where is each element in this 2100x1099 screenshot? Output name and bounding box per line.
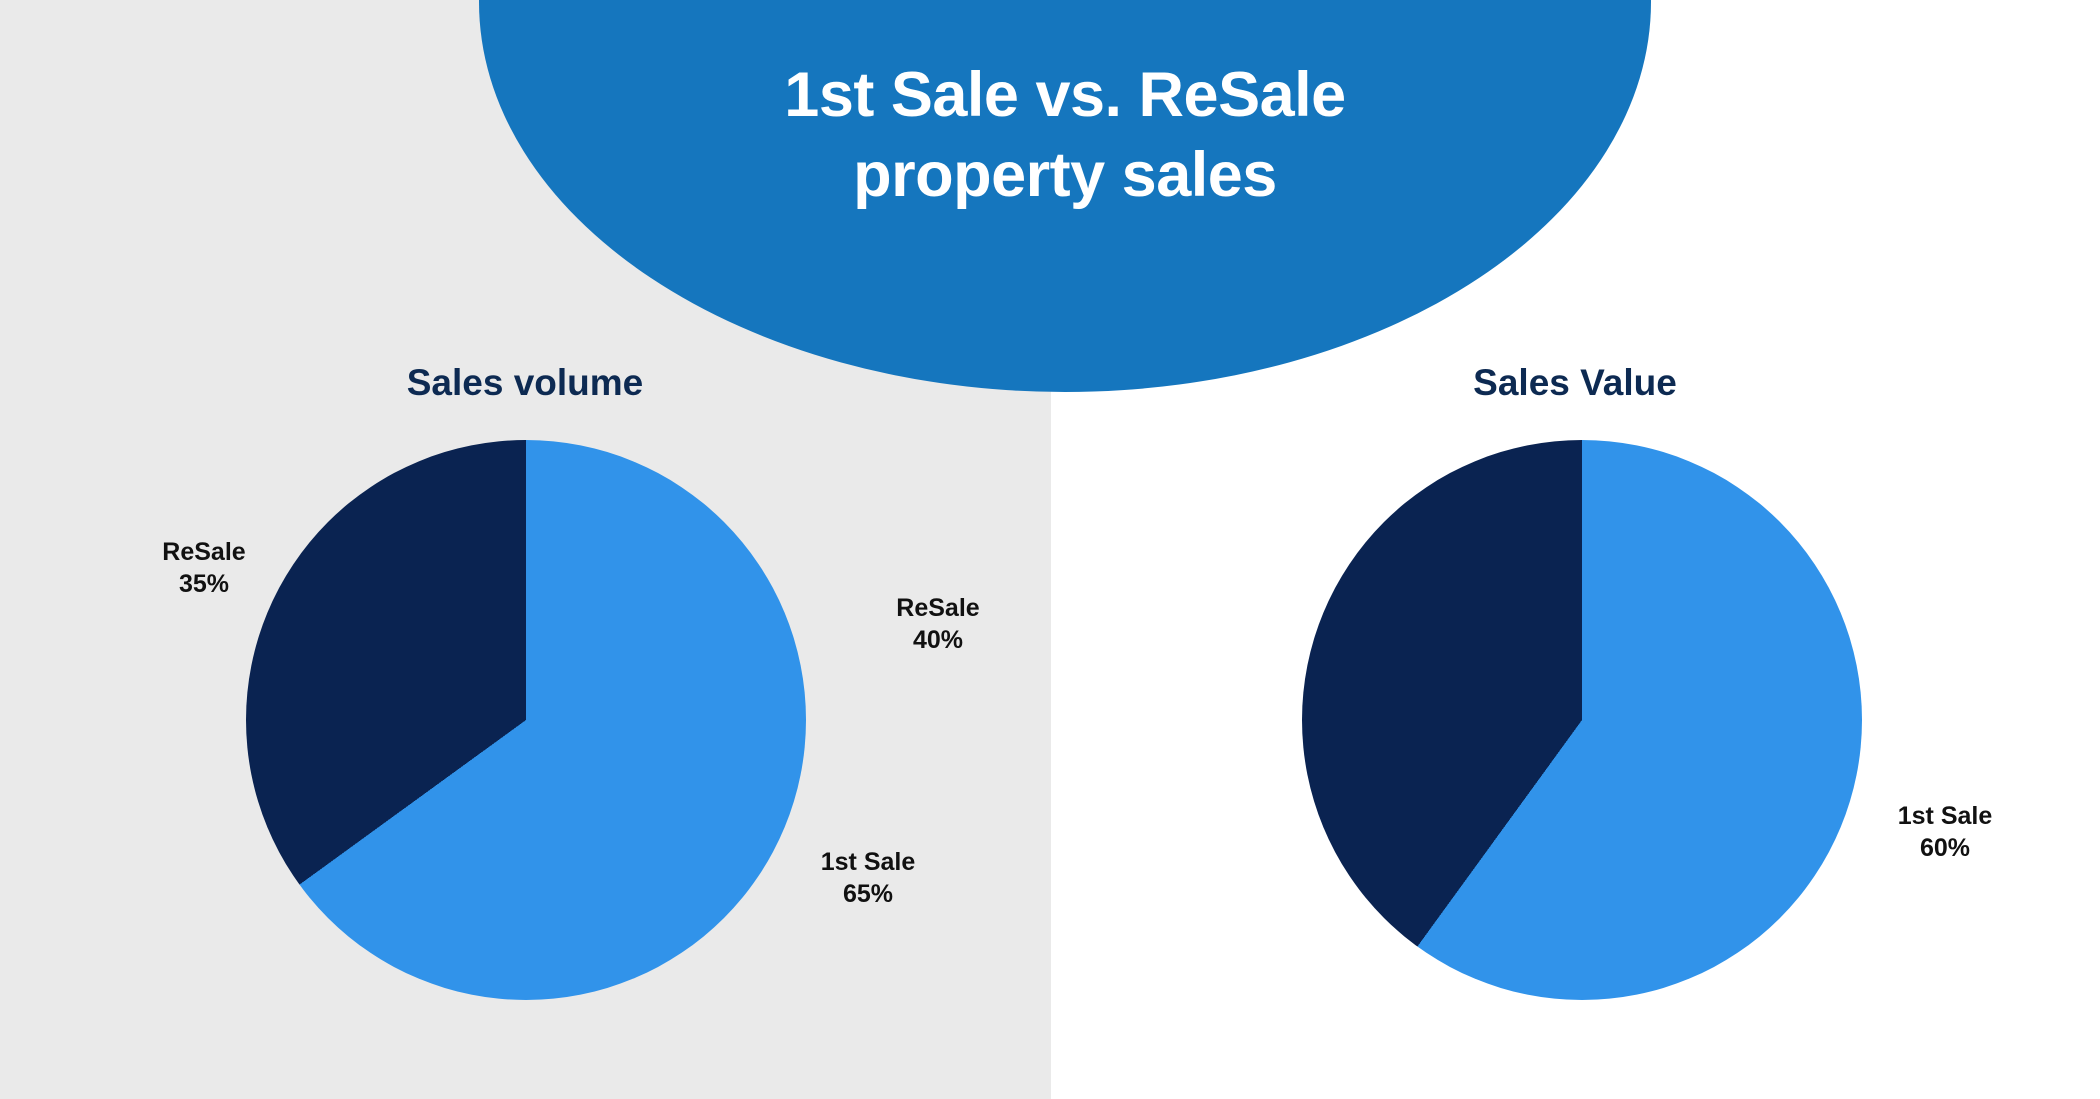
pie-label-resale-sales-volume: ReSale 35% [134, 536, 274, 600]
pie-label-first-sale-sales-value: 1st Sale 60% [1855, 800, 2035, 864]
pie-slices-sales-volume [246, 440, 806, 1000]
pie-slices-sales-value [1302, 440, 1862, 1000]
infographic-canvas: 1st Sale vs. ReSale property sales Sales… [0, 0, 2100, 1099]
chart-title-sales-value: Sales Value [1050, 362, 2100, 404]
pie-chart-sales-volume [246, 440, 806, 1000]
chart-block-sales-value: Sales Value [1050, 0, 2100, 1099]
pie-label-first-sale-sales-volume: 1st Sale 65% [778, 846, 958, 910]
pie-chart-sales-value [1302, 440, 1862, 1000]
chart-title-sales-volume: Sales volume [0, 362, 1050, 404]
chart-block-sales-volume: Sales volume ReSale 35% 1st Sale 65% [0, 0, 1050, 1099]
pie-label-resale-sales-value: ReSale 40% [868, 592, 1008, 656]
